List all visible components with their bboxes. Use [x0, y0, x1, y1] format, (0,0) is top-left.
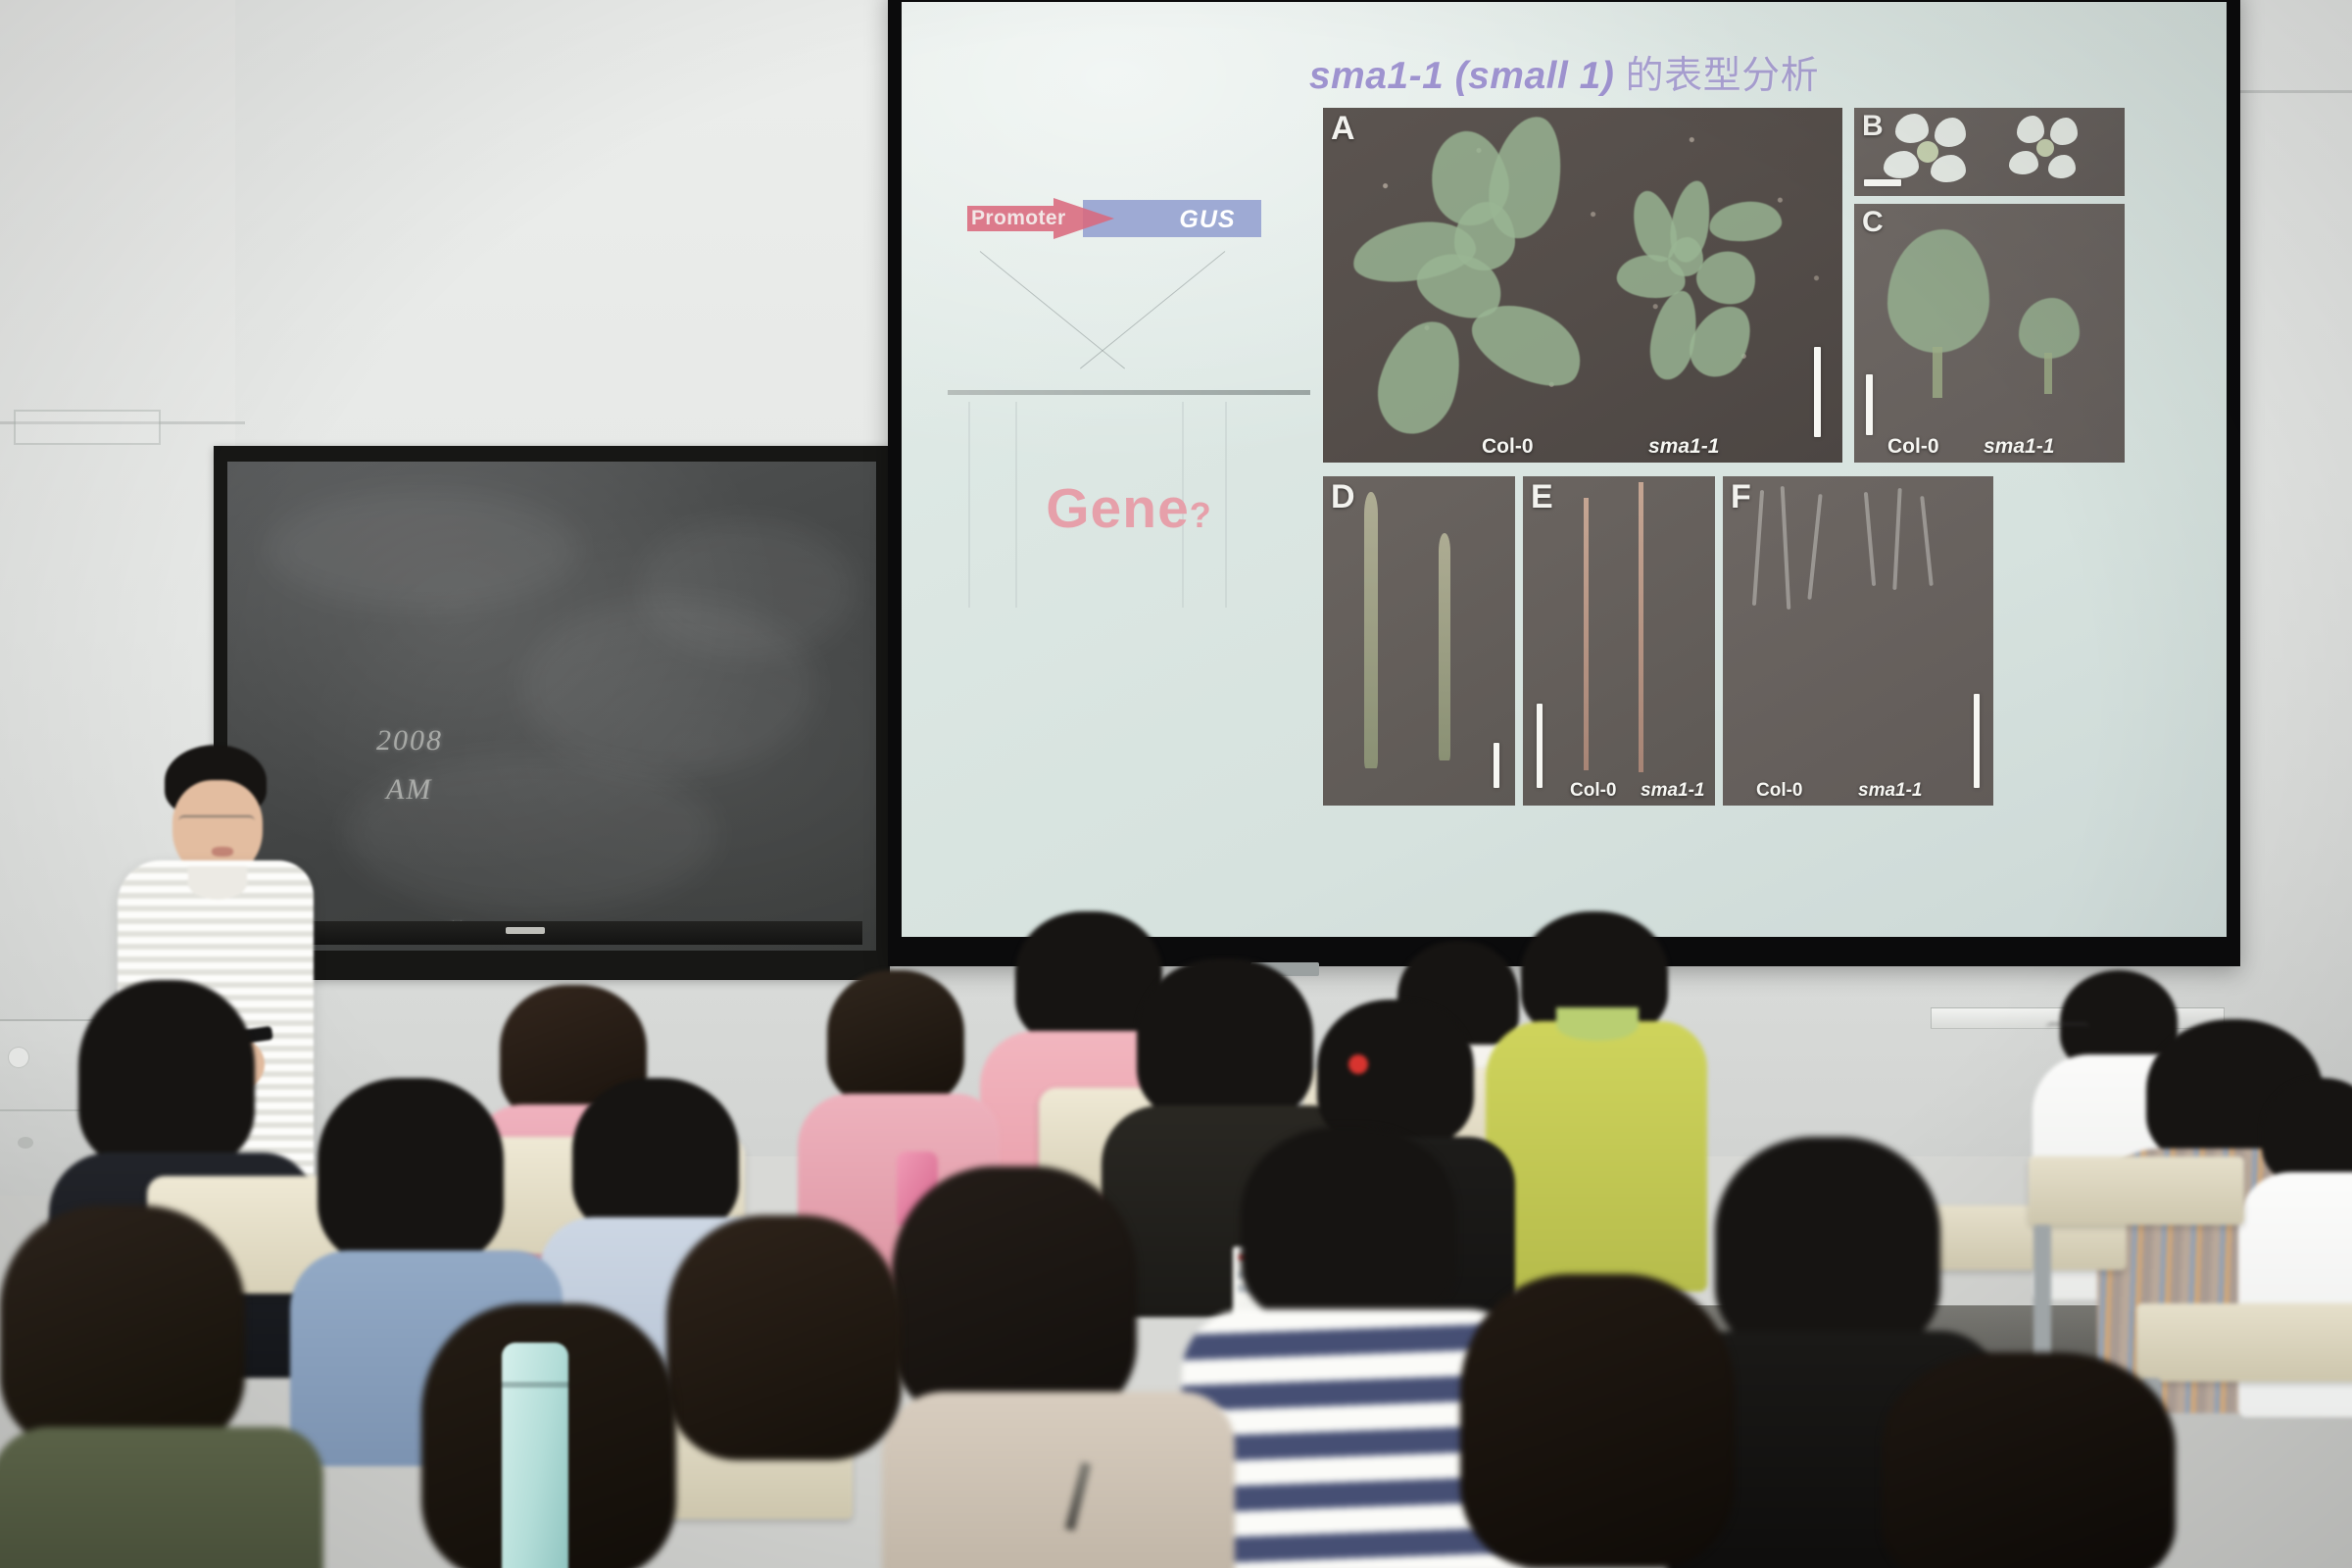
panel-e-caption-right: sma1-1 [1641, 780, 1705, 802]
mint-thermos[interactable] [502, 1343, 568, 1568]
flower-petal [1935, 118, 1966, 147]
hair [1241, 1127, 1456, 1323]
silique-sma11 [1439, 533, 1450, 760]
audience-member [1882, 1352, 2176, 1568]
hair-long [1460, 1274, 1735, 1568]
scale-bar [1864, 179, 1901, 186]
hair [572, 1078, 739, 1235]
flower-petal [1884, 151, 1919, 178]
stem-col0 [1584, 498, 1589, 770]
flower-petal [1895, 114, 1929, 143]
converge-line-right [1080, 251, 1225, 368]
collar [1556, 1007, 1639, 1041]
panel-letter-d: D [1331, 478, 1355, 516]
leaf-petiole [1933, 347, 1942, 398]
faint-guide [968, 402, 970, 608]
panel-b: B [1854, 108, 2125, 196]
promoter-gus-diagram: Promoter GUS Gene? [953, 198, 1305, 610]
scale-bar [1866, 374, 1873, 435]
converge-line-left [980, 251, 1125, 368]
panel-c-bg [1854, 204, 2125, 463]
panel-f-caption-left: Col-0 [1756, 780, 1803, 802]
chalk-smudge [639, 520, 855, 658]
shirt-collar [188, 866, 247, 900]
genome-line [948, 390, 1310, 395]
panel-a: A Col-0 sma1-1 [1323, 108, 1842, 463]
flower-center [2036, 139, 2054, 157]
panel-c: C Col-0 sma1-1 [1854, 204, 2125, 463]
panel-letter-b: B [1862, 110, 1884, 143]
panel-letter-f: F [1731, 478, 1751, 516]
scale-bar [1494, 743, 1499, 788]
hair-ponytail [78, 980, 255, 1166]
flower-petal [1931, 155, 1966, 182]
gene-construct: Promoter GUS [967, 198, 1261, 239]
hair [1137, 958, 1313, 1121]
chalk-stick[interactable] [506, 927, 545, 934]
panel-e: E Col-0 sma1-1 [1523, 476, 1715, 806]
wall-seam-right [2225, 90, 2352, 93]
panel-d-bg [1323, 476, 1515, 806]
silique-col0 [1364, 492, 1378, 768]
panel-c-caption-right: sma1-1 [1984, 435, 2054, 459]
glasses-icon [178, 815, 255, 828]
projection-screen: sma1-1 (small 1) 的表型分析 Promoter GUS [888, 0, 2240, 966]
flower-petal [2017, 116, 2044, 143]
slide-title: sma1-1 (small 1) 的表型分析 [902, 45, 2227, 100]
cabinet-knob[interactable] [18, 1137, 33, 1149]
thermos-lid-seam [502, 1382, 568, 1388]
panel-f-bg [1723, 476, 1993, 806]
thermos-body [502, 1343, 568, 1568]
audience-member [1499, 911, 1695, 1284]
slide-title-gene: sma1-1 (small 1) [1309, 55, 1615, 97]
panel-a-caption-right: sma1-1 [1648, 435, 1719, 459]
hair-ponytail [1317, 1000, 1474, 1147]
chalk-smudge [521, 599, 815, 775]
panel-a-caption-left: Col-0 [1482, 435, 1534, 459]
panel-e-caption-left: Col-0 [1570, 780, 1617, 802]
flower-petal [2009, 151, 2038, 174]
panel-letter-c: C [1862, 206, 1884, 239]
gene-text: Gene [1046, 477, 1190, 540]
gene-question-mark: ? [1190, 495, 1212, 535]
gene-question-label: Gene? [982, 476, 1276, 541]
flower-center [1917, 141, 1938, 163]
panel-f: F Col-0 sma1-1 [1723, 476, 1993, 806]
chalk-note-year: 2008 [376, 724, 443, 758]
flower-petal [2050, 118, 2078, 145]
audience-member [0, 1205, 314, 1568]
panel-e-bg [1523, 476, 1715, 806]
panel-f-caption-right: sma1-1 [1858, 780, 1923, 802]
glasses-icon [2046, 1023, 2089, 1033]
presenter-mouth [212, 847, 233, 857]
shirt-olive [0, 1427, 323, 1568]
leaf-petiole [2044, 353, 2052, 394]
scale-bar [1537, 704, 1543, 788]
flower-petal [2048, 155, 2076, 178]
gus-label: GUS [1153, 206, 1261, 234]
stem-sma11 [1639, 482, 1643, 772]
hair-long [0, 1205, 245, 1450]
lecture-hall-scene: 2008 AM ⌄ sma1-1 (small 1) 的表型分析 [0, 0, 2352, 1568]
chalk-smudge [267, 491, 580, 609]
hair [2262, 1078, 2352, 1186]
panel-letter-e: E [1531, 478, 1553, 516]
panel-c-caption-left: Col-0 [1887, 435, 1939, 459]
panel-letter-a: A [1331, 110, 1355, 148]
slide-title-cjk: 的表型分析 [1614, 55, 1819, 97]
hair-long [1882, 1352, 2176, 1568]
panel-d: D [1323, 476, 1515, 806]
hair-bob [827, 970, 964, 1105]
scale-bar [1974, 694, 1980, 788]
hair [318, 1078, 504, 1264]
desk-top [2029, 1156, 2244, 1225]
light-switch[interactable] [8, 1047, 29, 1068]
plant-leaf [1668, 237, 1703, 276]
chalk-note-am: AM [386, 773, 432, 807]
promoter-label: Promoter [971, 207, 1108, 230]
hair-tie [1348, 1054, 1368, 1074]
slide-surface: sma1-1 (small 1) 的表型分析 Promoter GUS [902, 2, 2227, 937]
scale-bar [1814, 347, 1821, 437]
wall-notice [14, 410, 161, 445]
audience-member [1450, 1274, 1764, 1568]
